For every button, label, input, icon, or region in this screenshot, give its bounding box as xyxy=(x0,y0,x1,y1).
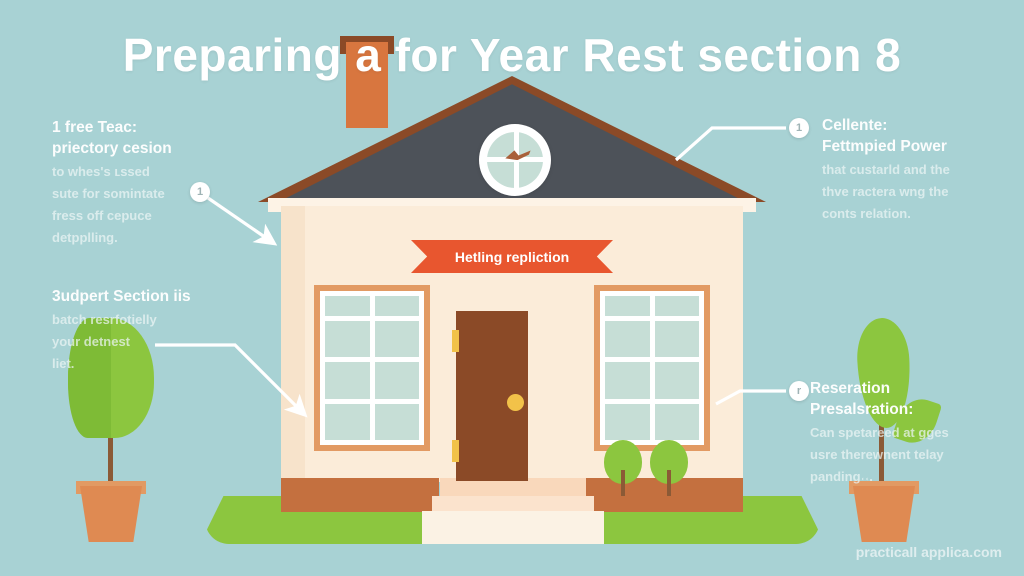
callout-top-right: Cellente: Fettmpied Power that custarld … xyxy=(822,115,997,223)
callout-top-right-body-3: conts relation. xyxy=(822,204,997,223)
callout-middle-left: 3udpert Section iis batch resrfotielly y… xyxy=(52,286,217,373)
callout-bottom-right-body-3: panding˓˓. xyxy=(810,467,995,486)
page-title: Preparing a for Year Rest section 8 xyxy=(0,28,1024,82)
callout-top-left-heading-1: 1 free Teac: xyxy=(52,117,227,138)
callout-middle-left-body-1: batch resrfotielly xyxy=(52,310,217,329)
callout-bottom-right-body-2: usre therewnent telay xyxy=(810,445,995,464)
connector-top-right xyxy=(676,128,786,160)
infographic-canvas: Hetling repliction xyxy=(0,0,1024,576)
callout-top-left-body-1: to whes's ʟssed xyxy=(52,162,227,181)
callout-middle-left-body-2: your detnest xyxy=(52,332,217,351)
callout-top-left-body-4: detpplling. xyxy=(52,228,227,247)
callout-top-right-body-2: thve ractera wng the xyxy=(822,182,997,201)
callout-bottom-right: Reseration Presalsration: Can spetareed … xyxy=(810,378,995,486)
callout-top-right-body-1: that custarld and the xyxy=(822,160,997,179)
callout-top-right-heading-2: Fettmpied Power xyxy=(822,136,997,157)
callout-bottom-right-heading-1: Reseration xyxy=(810,378,995,399)
callout-top-right-heading-1: Cellente: xyxy=(822,115,997,136)
callout-top-left-body-3: fress off cepuce xyxy=(52,206,227,225)
callout-middle-left-heading-1: 3udpert Section iis xyxy=(52,286,217,307)
footer-watermark: practicall applica.com xyxy=(856,544,1002,560)
callout-marker-2[interactable]: 1 xyxy=(789,118,809,138)
callout-top-left-heading-2: priectory cesion xyxy=(52,138,227,159)
callout-marker-1[interactable]: 1 xyxy=(190,182,210,202)
callout-bottom-right-body-1: Can spetareed at gges xyxy=(810,423,995,442)
callout-marker-3[interactable]: r xyxy=(789,381,809,401)
callout-middle-left-body-3: liet. xyxy=(52,354,217,373)
callout-bottom-right-heading-2: Presalsration: xyxy=(810,399,995,420)
connector-bottom-right xyxy=(716,391,786,404)
